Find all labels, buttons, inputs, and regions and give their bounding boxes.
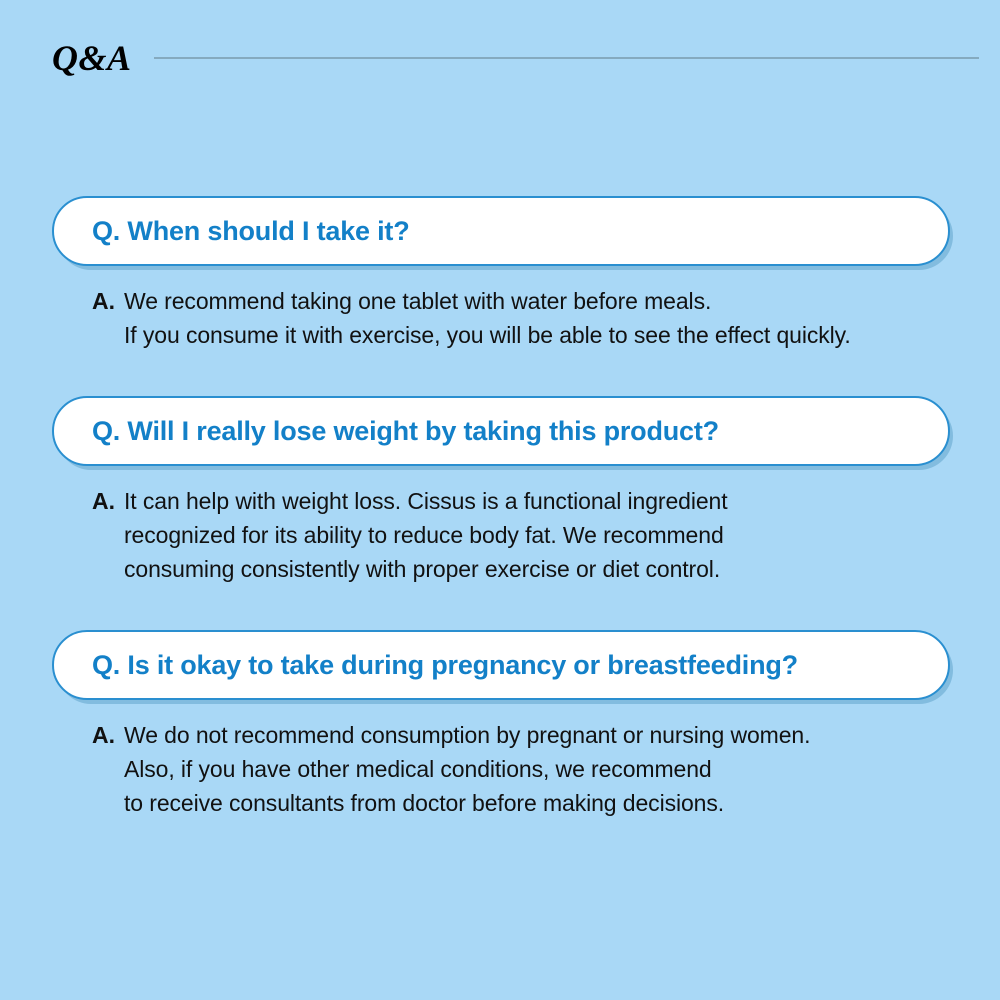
qa-item: Q. Is it okay to take during pregnancy o…: [0, 630, 1000, 820]
question-text: Q. Is it okay to take during pregnancy o…: [92, 652, 798, 679]
answer-line: It can help with weight loss. Cissus is …: [124, 484, 1000, 518]
answer-marker: A.: [92, 484, 115, 518]
answer-text: It can help with weight loss. Cissus is …: [124, 484, 1000, 586]
answer-text: We do not recommend consumption by pregn…: [124, 718, 1000, 820]
question-pill[interactable]: Q. When should I take it?: [52, 196, 950, 266]
answer-text: We recommend taking one tablet with wate…: [124, 284, 1000, 352]
answer-line: Also, if you have other medical conditio…: [124, 752, 1000, 786]
header-divider: [154, 57, 979, 59]
answer-block: A. We recommend taking one tablet with w…: [92, 284, 1000, 352]
answer-marker: A.: [92, 284, 115, 318]
qa-item: Q. Will I really lose weight by taking t…: [0, 396, 1000, 586]
answer-marker: A.: [92, 718, 115, 752]
qa-list: Q. When should I take it? A. We recommen…: [0, 196, 1000, 820]
answer-line: If you consume it with exercise, you wil…: [124, 318, 1000, 352]
answer-line: We recommend taking one tablet with wate…: [124, 284, 1000, 318]
answer-block: A. We do not recommend consumption by pr…: [92, 718, 1000, 820]
answer-line: to receive consultants from doctor befor…: [124, 786, 1000, 820]
page-title: Q&A: [52, 40, 132, 76]
question-pill[interactable]: Q. Is it okay to take during pregnancy o…: [52, 630, 950, 700]
question-pill[interactable]: Q. Will I really lose weight by taking t…: [52, 396, 950, 466]
page-header: Q&A: [52, 36, 960, 80]
question-text: Q. Will I really lose weight by taking t…: [92, 418, 719, 445]
qa-item: Q. When should I take it? A. We recommen…: [0, 196, 1000, 352]
question-text: Q. When should I take it?: [92, 218, 410, 245]
answer-line: We do not recommend consumption by pregn…: [124, 718, 1000, 752]
answer-line: recognized for its ability to reduce bod…: [124, 518, 1000, 552]
answer-block: A. It can help with weight loss. Cissus …: [92, 484, 1000, 586]
answer-line: consuming consistently with proper exerc…: [124, 552, 1000, 586]
